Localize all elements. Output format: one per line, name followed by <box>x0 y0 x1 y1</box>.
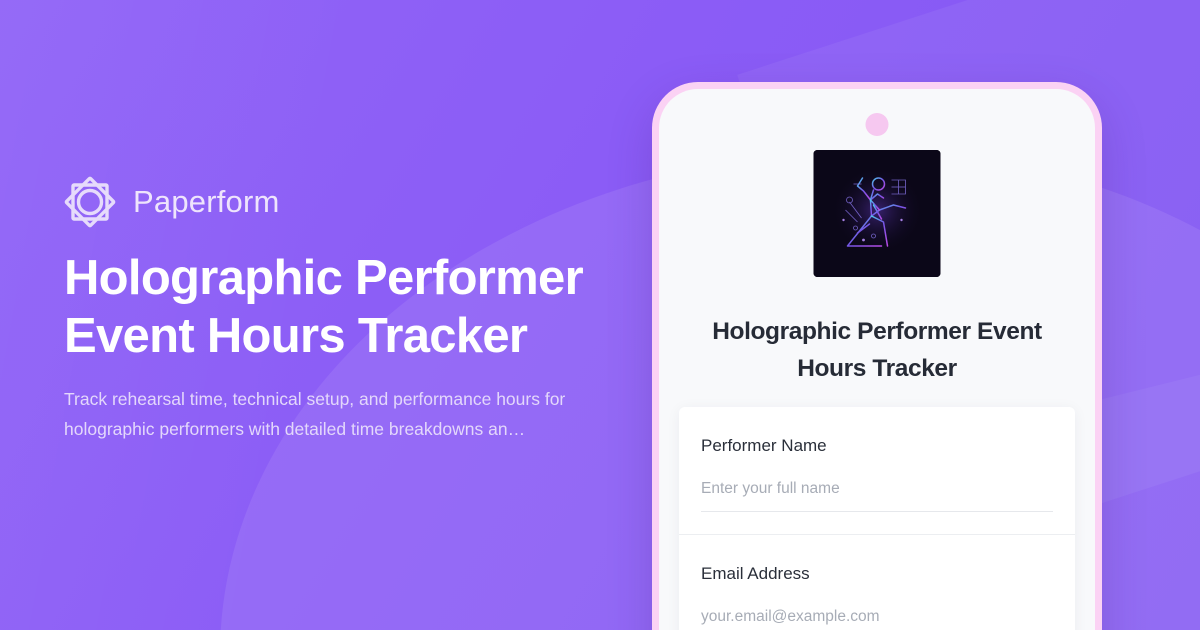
email-address-input[interactable]: your.email@example.com <box>701 607 1053 630</box>
brand-name: Paperform <box>133 184 280 220</box>
share-preview-canvas: Paperform Holographic Performer Event Ho… <box>0 0 1200 630</box>
neon-holographic-dancer-image <box>814 150 941 277</box>
page-title: Holographic Performer Event Hours Tracke… <box>64 249 644 365</box>
form-title: Holographic Performer Event Hours Tracke… <box>687 313 1067 387</box>
field-performer-name: Performer Name Enter your full name <box>679 407 1075 534</box>
performer-name-input[interactable]: Enter your full name <box>701 479 1053 512</box>
page-description: Track rehearsal time, technical setup, a… <box>64 384 584 444</box>
camera-dot-icon <box>866 113 889 136</box>
field-label-performer-name: Performer Name <box>701 435 1053 457</box>
phone-mockup: Holographic Performer Event Hours Tracke… <box>652 82 1102 630</box>
field-email-address: Email Address your.email@example.com <box>679 534 1075 630</box>
field-spacer <box>701 512 1053 534</box>
paperform-star-logo-icon <box>64 176 116 228</box>
field-label-email-address: Email Address <box>701 563 1053 585</box>
brand-lockup: Paperform <box>64 176 280 228</box>
hero-content-column: Paperform Holographic Performer Event Ho… <box>64 0 624 630</box>
form-card: Performer Name Enter your full name Emai… <box>679 407 1075 630</box>
